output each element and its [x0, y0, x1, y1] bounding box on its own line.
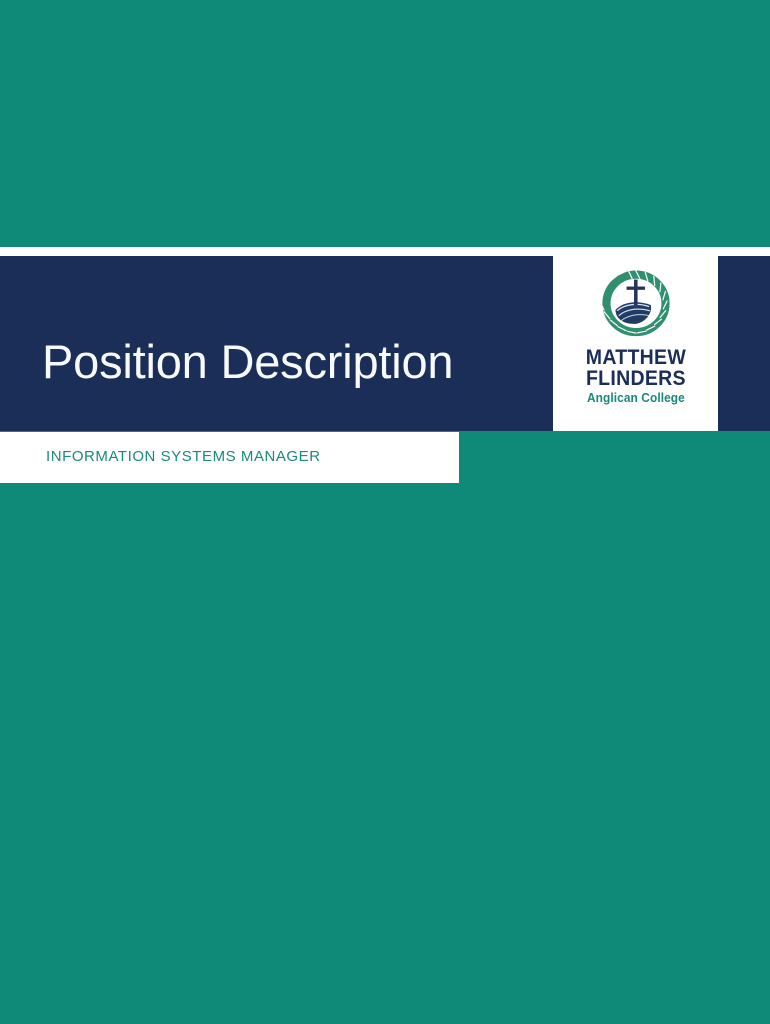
logo-wordmark-line-1: MATTHEW: [585, 347, 685, 368]
document-cover-page: Position Description: [0, 0, 770, 1024]
logo-wordmark: MATTHEW FLINDERS Anglican College: [582, 347, 690, 405]
matthew-flinders-crest-icon: [595, 264, 677, 346]
logo-panel: MATTHEW FLINDERS Anglican College: [553, 256, 718, 431]
position-title-subtitle: INFORMATION SYSTEMS MANAGER: [46, 448, 321, 465]
logo-wordmark-tagline: Anglican College: [584, 392, 686, 405]
logo-wordmark-line-2: FLINDERS: [585, 368, 685, 389]
page-title: Position Description: [42, 337, 453, 388]
banner-top-separator: [0, 247, 770, 256]
